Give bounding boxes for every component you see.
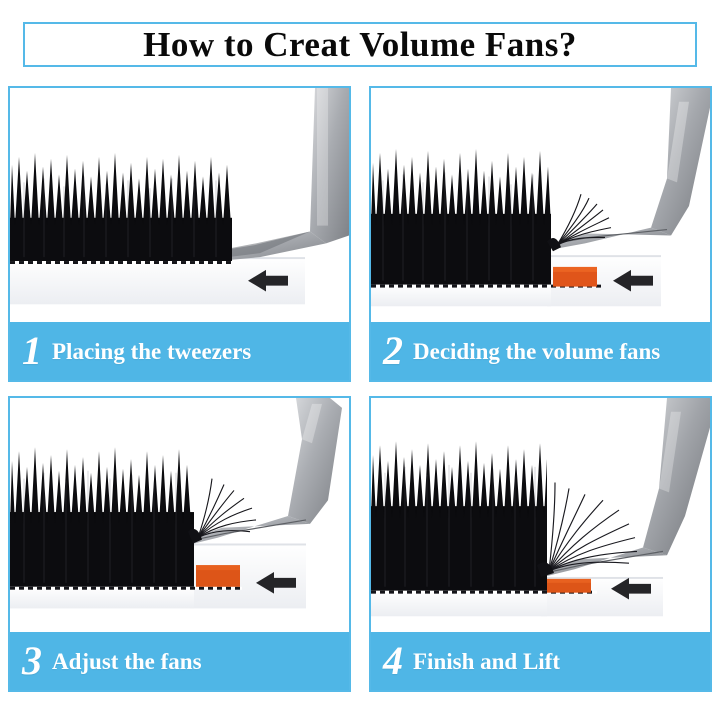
lash-tips-1 (10, 153, 232, 261)
tweezer-icon-3 (193, 398, 342, 544)
marker-sticker-4 (547, 579, 591, 593)
step-number-1: 1 (22, 331, 42, 371)
lash-tips-3 (10, 447, 194, 587)
lash-illustration-3 (10, 398, 349, 632)
step-panel-2[interactable]: 2 Deciding the volume fans (369, 86, 712, 382)
lash-illustration-2 (371, 88, 710, 322)
page-title-box: How to Creat Volume Fans? (23, 22, 697, 67)
step-number-4: 4 (383, 641, 403, 681)
lash-tips-4 (371, 441, 547, 590)
tape-line-3 (10, 587, 242, 590)
step-panel-3[interactable]: 3 Adjust the fans (8, 396, 351, 692)
step-image-2 (371, 88, 710, 322)
tape-line-1 (10, 261, 232, 264)
step-caption-4: 4 Finish and Lift (371, 632, 710, 690)
step-caption-3: 3 Adjust the fans (10, 632, 349, 690)
step-caption-1: 1 Placing the tweezers (10, 322, 349, 380)
step-image-3 (10, 398, 349, 632)
step-label-4: Finish and Lift (413, 650, 560, 673)
lash-illustration-4 (371, 398, 710, 632)
marker-sticker-3 (196, 565, 240, 587)
lash-fan-2 (557, 194, 611, 245)
lash-illustration-1 (10, 88, 349, 322)
step-label-1: Placing the tweezers (52, 340, 251, 363)
steps-grid: 1 Placing the tweezers (8, 86, 712, 700)
tweezer-icon-4 (541, 398, 710, 577)
step-image-1 (10, 88, 349, 322)
step-image-4 (371, 398, 710, 632)
step-panel-4[interactable]: 4 Finish and Lift (369, 396, 712, 692)
step-number-3: 3 (22, 641, 42, 681)
marker-sticker-2 (553, 267, 597, 287)
step-caption-2: 2 Deciding the volume fans (371, 322, 710, 380)
page-title: How to Creat Volume Fans? (143, 27, 577, 62)
step-label-3: Adjust the fans (52, 650, 202, 673)
step-number-2: 2 (383, 331, 403, 371)
step-panel-1[interactable]: 1 Placing the tweezers (8, 86, 351, 382)
lash-tips-2 (371, 149, 551, 285)
tweezer-icon-2 (551, 88, 710, 249)
step-label-2: Deciding the volume fans (413, 340, 660, 363)
